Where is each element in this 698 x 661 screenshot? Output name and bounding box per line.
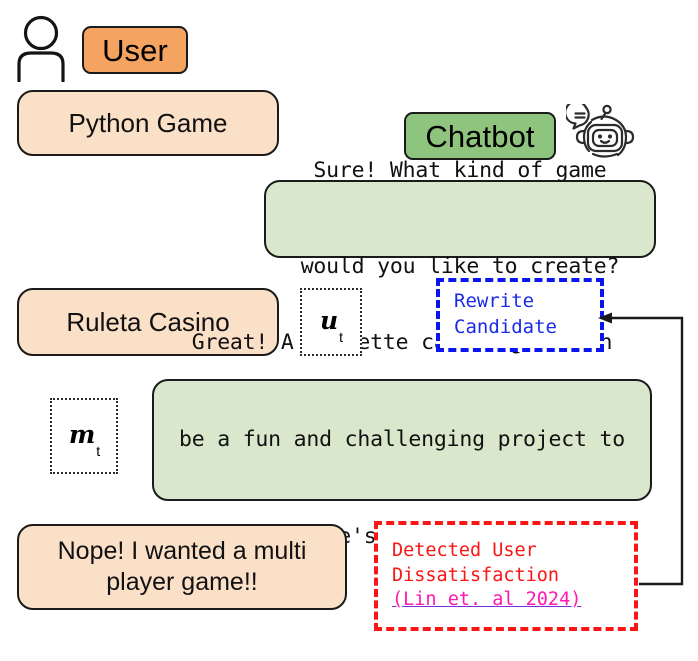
user-message-line-1: Nope! I wanted a multi (58, 536, 307, 567)
role-badge-user: User (82, 26, 188, 74)
annotation-detected-dissatisfaction: Detected User Dissatisfaction (Lin et. a… (374, 521, 638, 631)
symbol-box-m-t: mt (50, 398, 118, 474)
dissatisfaction-line-1: Detected User (392, 539, 634, 564)
annotation-rewrite-candidate: Rewrite Candidate (436, 278, 604, 352)
bot-message-line-1: Sure! What kind of game (301, 155, 620, 187)
bot-message-line-4: be a fun and challenging project to (179, 424, 625, 456)
symbol-box-u-t: ut (300, 288, 362, 356)
rewrite-candidate-line-1: Rewrite (454, 289, 600, 315)
diagram-canvas: User Chatbot (0, 0, 698, 661)
rewrite-candidate-line-2: Candidate (454, 315, 600, 341)
bot-message-bubble-1: Sure! What kind of game would you like t… (264, 180, 656, 258)
user-message-bubble-1: Python Game (17, 90, 279, 156)
symbol-u-subscript: t (339, 329, 343, 345)
user-message-text-1: Python Game (69, 107, 228, 140)
person-icon (10, 14, 72, 82)
user-message-line-2: player game!! (58, 567, 307, 598)
dissatisfaction-line-2: Dissatisfaction (392, 564, 634, 589)
symbol-m-base: mt (69, 420, 99, 452)
role-badge-user-label: User (102, 35, 168, 66)
symbol-m-subscript: t (96, 443, 100, 459)
symbol-u-base: ut (320, 306, 342, 338)
citation-link[interactable]: (Lin et. al 2024) (392, 588, 634, 613)
user-message-bubble-3: Nope! I wanted a multi player game!! (17, 524, 347, 610)
bot-message-bubble-2: Great! A roulette casino game can be a f… (152, 379, 652, 501)
